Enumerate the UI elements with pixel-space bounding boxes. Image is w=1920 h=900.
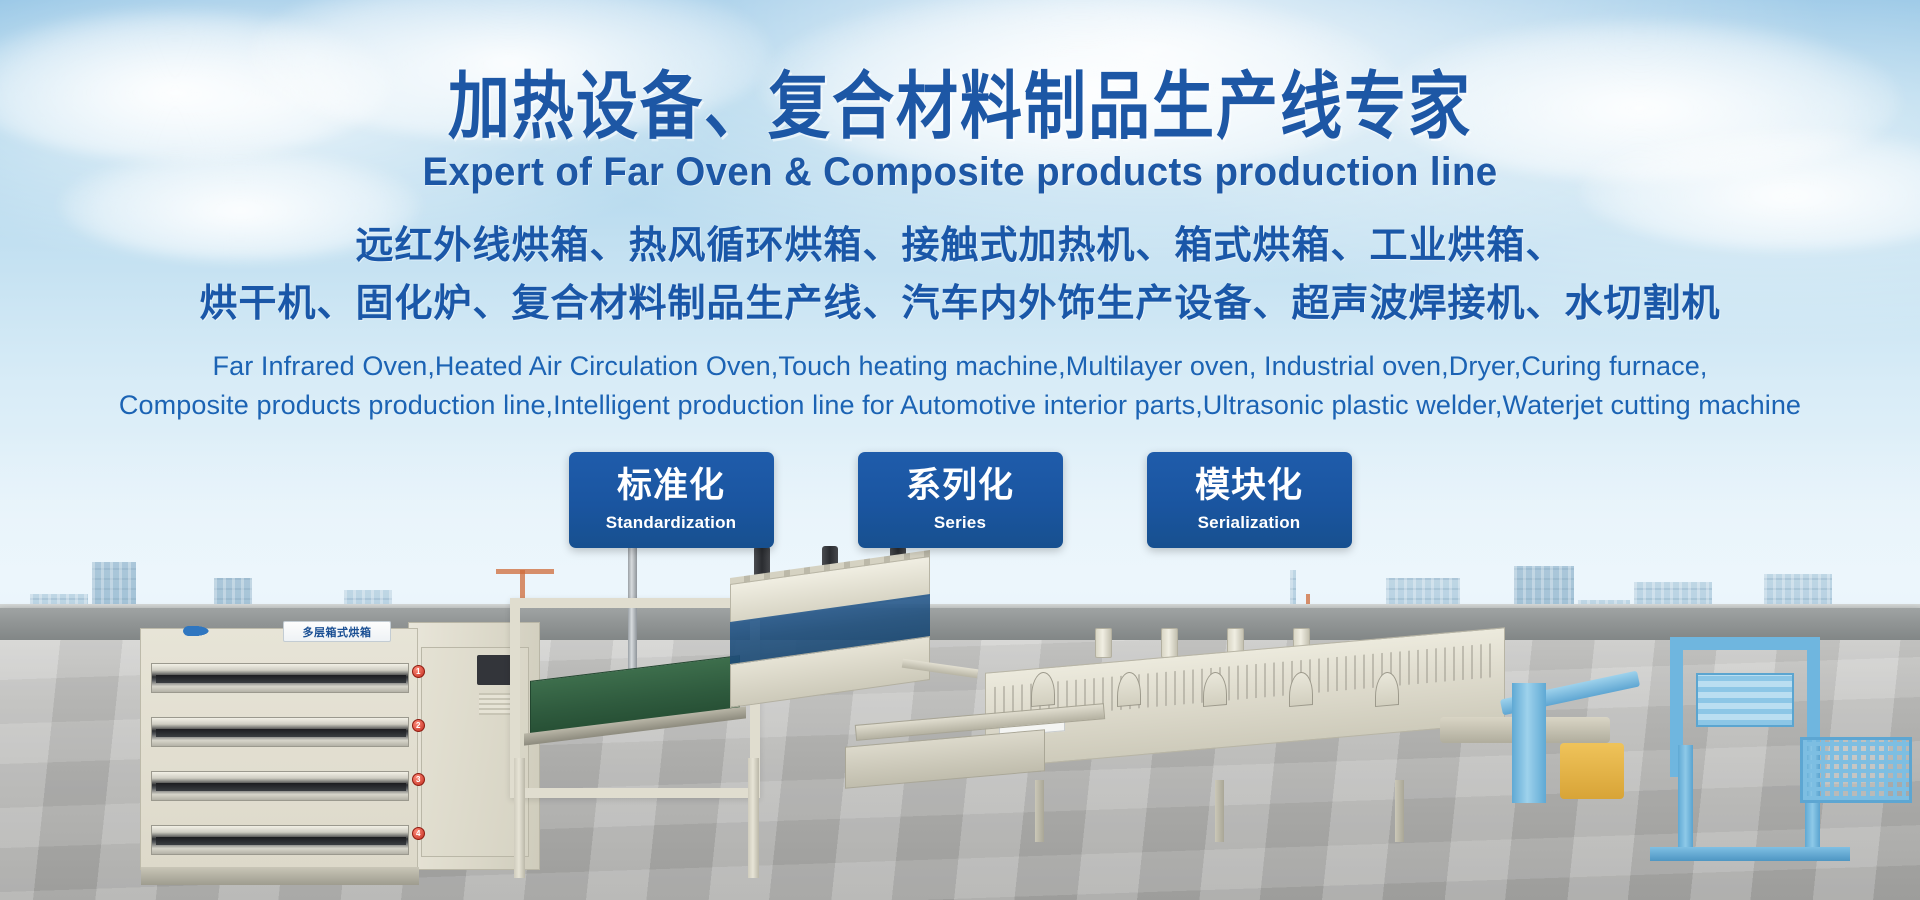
tunnel-oven-body [985,627,1505,768]
exhaust-stack [1161,628,1178,658]
support-leg [1395,780,1404,842]
subtitle-english-line-2: Composite products production line,Intel… [0,386,1920,425]
badge-label-en: Standardization [606,513,737,533]
badge-label-en: Serialization [1198,513,1301,533]
frame-leg-left [514,758,525,878]
subtitle-chinese: 远红外线烘箱、热风循环烘箱、接触式加热机、箱式烘箱、工业烘箱、 烘干机、固化炉、… [0,217,1920,333]
badge-series[interactable]: 系列化 Series [858,452,1063,548]
hero-banner: 多层箱式烘箱 1 2 3 4 [0,0,1920,900]
feature-badges: 标准化 Standardization 系列化 Series 模块化 Seria… [0,452,1920,548]
frame-leg-right [748,758,759,878]
machine-name-plate-label: 多层箱式烘箱 [303,624,372,640]
badge-label-cn: 系列化 [906,467,1014,506]
support-leg [1215,780,1224,842]
badge-standardization[interactable]: 标准化 Standardization [569,452,774,548]
safety-mesh-guard [1800,737,1912,803]
badge-label-cn: 标准化 [617,467,725,506]
headline-chinese: 加热设备、复合材料制品生产线专家 [0,68,1920,145]
oven-base [141,867,419,885]
subtitle-english-line-1: Far Infrared Oven,Heated Air Circulation… [0,347,1920,386]
oven-frame: 多层箱式烘箱 1 2 3 4 [140,628,418,870]
subtitle-chinese-line-1: 远红外线烘箱、热风循环烘箱、接触式加热机、箱式烘箱、工业烘箱、 [0,217,1920,275]
oven-layer [151,771,409,801]
indicator-lamp-4: 4 [412,827,425,840]
oven-layer [151,663,409,693]
oven-layer [151,825,409,855]
oven-layer [151,717,409,747]
badge-label-cn: 模块化 [1195,467,1303,506]
gantry-platform [1696,673,1794,727]
indicator-lamp-3: 3 [412,773,425,786]
press-head-assembly [730,546,930,696]
badge-serialization[interactable]: 模块化 Serialization [1147,452,1352,548]
multilayer-oven: 多层箱式烘箱 1 2 3 4 [140,622,540,870]
badge-label-en: Series [934,513,986,533]
indicator-lamp-number: 3 [416,775,420,784]
indicator-lamp-2: 2 [412,719,425,732]
support-leg [1035,780,1044,842]
gantry-base-rail [1650,847,1850,861]
indicator-lamp-number: 2 [416,721,420,730]
exhaust-stack [1095,628,1112,658]
automation-cell [1500,625,1920,855]
indicator-lamp-number: 1 [416,667,420,676]
gantry-leg-left [1678,745,1693,855]
robot-base [1560,743,1624,799]
headline-block: 加热设备、复合材料制品生产线专家 Expert of Far Oven & Co… [0,0,1920,425]
machine-name-plate: 多层箱式烘箱 [283,621,391,642]
tunnel-oven [965,622,1505,852]
indicator-lamp-1: 1 [412,665,425,678]
brand-logo-icon [183,623,217,639]
subtitle-english: Far Infrared Oven,Heated Air Circulation… [0,347,1920,425]
subtitle-chinese-line-2: 烘干机、固化炉、复合材料制品生产线、汽车内外饰生产设备、超声波焊接机、水切割机 [0,275,1920,333]
blue-pillar [1512,683,1546,803]
indicator-lamp-number: 4 [416,829,420,838]
headline-english: Expert of Far Oven & Composite products … [38,151,1881,193]
